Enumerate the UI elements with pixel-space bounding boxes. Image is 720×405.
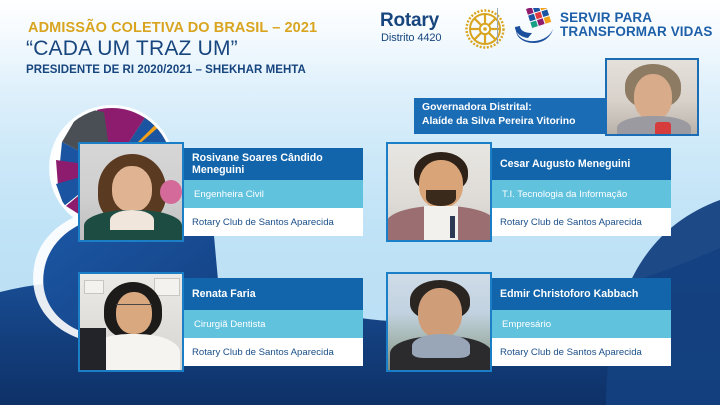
governor-name: Alaíde da Silva Pereira Vitorino [422,115,608,129]
member-club-bar: Rotary Club de Santos Aparecida [490,208,671,236]
member-profession: Engenheira Civil [194,189,264,200]
member-name-bar: Renata Faria [182,278,363,310]
member-club: Rotary Club de Santos Aparecida [192,217,334,228]
member-club-bar: Rotary Club de Santos Aparecida [182,208,363,236]
member-profession-bar: Engenheira Civil [182,180,363,208]
member-name: Renata Faria [192,288,256,301]
header-subtitle: PRESIDENTE DE RI 2020/2021 – SHEKHAR MEH… [26,64,306,76]
member-name-bar: Edmir Christoforo Kabbach [490,278,671,310]
member-profession-bar: Cirurgiã Dentista [182,310,363,338]
member-name: Rosivane Soares Cândido Meneguini [192,152,363,177]
people-of-action-mark-icon [512,8,556,44]
member-card[interactable]: Renata Faria Cirurgiã Dentista Rotary Cl… [78,272,363,372]
theme-tagline-line1: SERVIR PARA [560,11,712,25]
member-card[interactable]: Cesar Augusto Meneguini T.I. Tecnologia … [386,142,671,242]
member-info: Cesar Augusto Meneguini T.I. Tecnologia … [490,148,671,236]
member-profession: Cirurgiã Dentista [194,319,265,330]
member-name: Edmir Christoforo Kabbach [500,288,638,301]
governor-role-label: Governadora Distrital: [422,101,608,115]
rotary-logo-lockup: Rotary Distrito 4420 [380,6,490,52]
member-profession: T.I. Tecnologia da Informação [502,189,627,200]
header-title-line1: ADMISSÃO COLETIVA DO BRASIL – 2021 [28,20,317,36]
member-profession-bar: T.I. Tecnologia da Informação [490,180,671,208]
member-info: Renata Faria Cirurgiã Dentista Rotary Cl… [182,278,363,366]
member-card[interactable]: Rosivane Soares Cândido Meneguini Engenh… [78,142,363,242]
member-name-bar: Rosivane Soares Cândido Meneguini [182,148,363,180]
rotary-wordmark: Rotary [380,10,439,32]
header-title-line2: “CADA UM TRAZ UM” [26,37,238,61]
member-avatar [386,272,492,372]
member-info: Rosivane Soares Cândido Meneguini Engenh… [182,148,363,236]
member-info: Edmir Christoforo Kabbach Empresário Rot… [490,278,671,366]
theme-tagline: SERVIR PARA TRANSFORMAR VIDAS [560,11,712,39]
theme-tagline-line2: TRANSFORMAR VIDAS [560,25,712,39]
member-club: Rotary Club de Santos Aparecida [500,347,642,358]
member-club: Rotary Club de Santos Aparecida [500,217,642,228]
rotary-wheel-icon [465,9,505,49]
rotary-district-label: Distrito 4420 [381,32,441,44]
member-avatar [386,142,492,242]
member-avatar [78,142,184,242]
member-name: Cesar Augusto Meneguini [500,158,630,171]
governor-avatar [605,58,699,136]
member-club-bar: Rotary Club de Santos Aparecida [490,338,671,366]
lockup-divider [497,8,498,44]
slide-canvas: ADMISSÃO COLETIVA DO BRASIL – 2021 “CADA… [0,0,720,405]
member-profession: Empresário [502,319,551,330]
member-club: Rotary Club de Santos Aparecida [192,347,334,358]
member-avatar [78,272,184,372]
member-profession-bar: Empresário [490,310,671,338]
member-card[interactable]: Edmir Christoforo Kabbach Empresário Rot… [386,272,671,372]
governor-banner: Governadora Distrital: Alaíde da Silva P… [414,98,614,134]
member-club-bar: Rotary Club de Santos Aparecida [182,338,363,366]
member-name-bar: Cesar Augusto Meneguini [490,148,671,180]
